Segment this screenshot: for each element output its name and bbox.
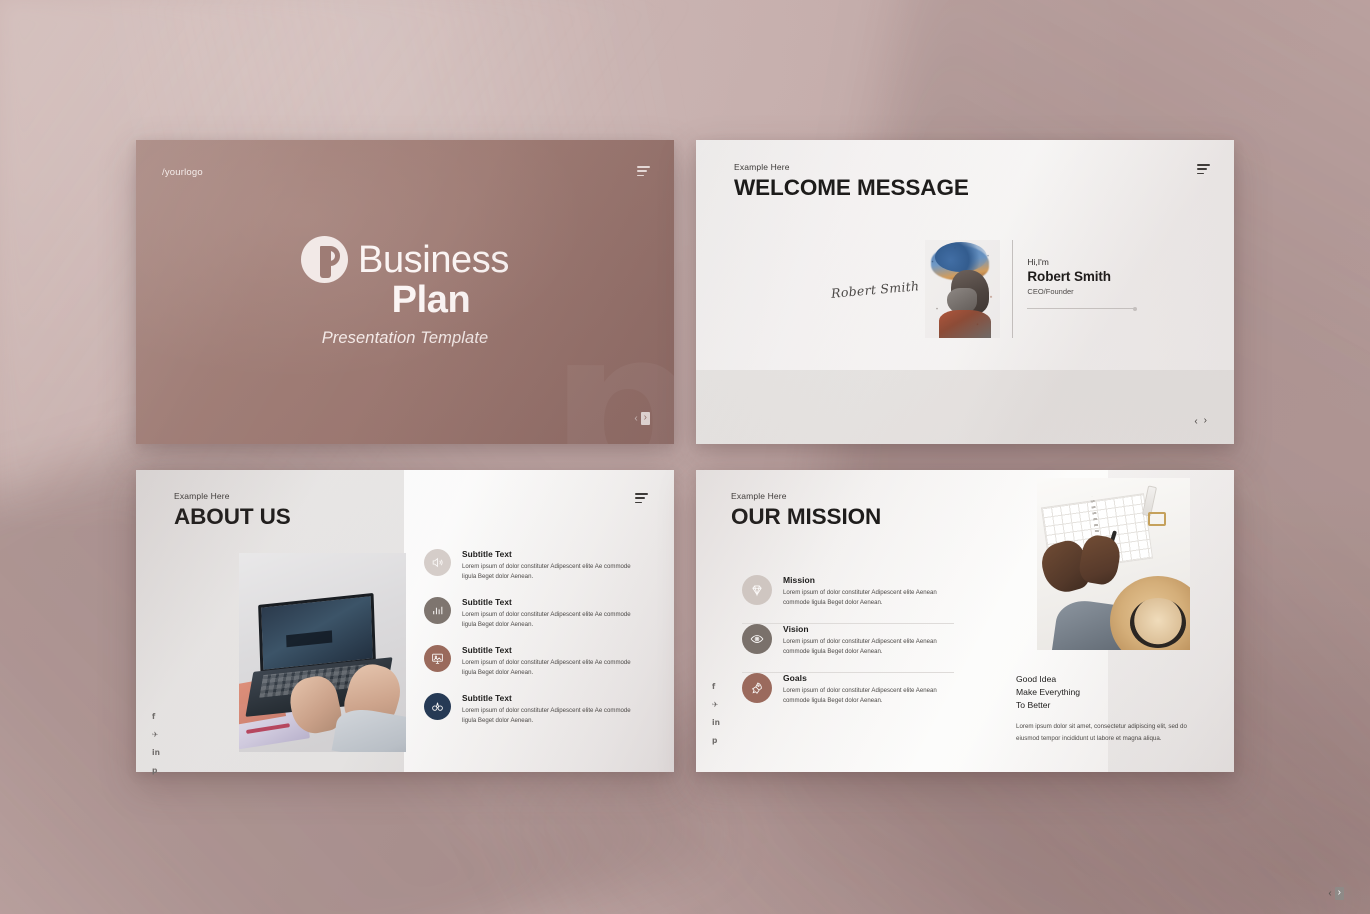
hamburger-icon[interactable] xyxy=(635,493,648,503)
side-panel-title: Good Idea Make Everything To Better xyxy=(1016,673,1206,712)
feature-body: Lorem ipsum of dolor constituter Adipesc… xyxy=(462,658,644,679)
feature-title: Subtitle Text xyxy=(462,645,644,655)
list-item[interactable]: Subtitle Text Lorem ipsum of dolor const… xyxy=(424,693,644,727)
feature-body: Lorem ipsum of dolor constituter Adipesc… xyxy=(783,588,954,609)
linkedin-icon[interactable]: in xyxy=(712,719,720,727)
slide-title[interactable]: p /yourlogo Business Plan Presentation T… xyxy=(136,140,674,444)
prev-arrow-icon[interactable]: ‹ xyxy=(1194,417,1197,427)
next-arrow-icon[interactable]: › xyxy=(1201,415,1210,428)
linkedin-icon[interactable]: in xyxy=(152,749,160,757)
social-links[interactable]: f ✈ in p xyxy=(712,683,720,745)
bar-chart-icon xyxy=(424,597,451,624)
hero-block: Business Plan Presentation Template xyxy=(136,236,674,348)
portrait-photo xyxy=(925,240,1000,338)
feature-body: Lorem ipsum of dolor constituter Adipesc… xyxy=(783,686,954,707)
megaphone-icon xyxy=(424,549,451,576)
facebook-icon[interactable]: f xyxy=(152,713,160,721)
profile-name: Robert Smith xyxy=(1027,269,1135,284)
slide-welcome[interactable]: Example Here WELCOME MESSAGE Robert Smit… xyxy=(696,140,1234,444)
feature-title: Subtitle Text xyxy=(462,597,644,607)
menu-button[interactable] xyxy=(635,493,648,503)
hamburger-icon[interactable] xyxy=(637,166,650,176)
eye-icon xyxy=(742,624,772,654)
menu-button[interactable] xyxy=(1197,164,1210,174)
feature-title: Subtitle Text xyxy=(462,549,644,559)
page-title: ABOUT US xyxy=(174,504,291,530)
slide-navigation[interactable]: ‹ › xyxy=(1328,887,1344,900)
laptop-typing-photo xyxy=(239,553,406,752)
twitter-icon[interactable]: ✈ xyxy=(152,731,160,739)
facebook-icon[interactable]: f xyxy=(712,683,720,691)
mockup-backdrop xyxy=(0,0,1370,914)
next-arrow-icon[interactable]: › xyxy=(641,412,650,425)
side-panel-body: Lorem ipsum dolor sit amet, consectetur … xyxy=(1016,721,1196,744)
list-item[interactable]: Subtitle Text Lorem ipsum of dolor const… xyxy=(424,645,644,679)
feature-title: Mission xyxy=(783,575,954,585)
profile-text: Hi,I'm Robert Smith CEO/Founder xyxy=(1013,240,1135,338)
hero-title-bold: Plan xyxy=(340,281,471,321)
list-item[interactable]: Subtitle Text Lorem ipsum of dolor const… xyxy=(424,597,644,631)
logo-text[interactable]: /yourlogo xyxy=(162,167,203,178)
hero-title-light: Business xyxy=(358,241,509,279)
list-item[interactable]: Subtitle Text Lorem ipsum of dolor const… xyxy=(424,549,644,583)
binoculars-icon xyxy=(424,693,451,720)
menu-button[interactable] xyxy=(637,166,650,176)
slide-footer-band xyxy=(696,370,1234,444)
hamburger-icon[interactable] xyxy=(1197,164,1210,174)
next-arrow-icon[interactable]: › xyxy=(1335,887,1344,900)
slide-header: Example Here WELCOME MESSAGE xyxy=(734,162,969,201)
side-panel-text: Good Idea Make Everything To Better Lore… xyxy=(1016,673,1206,744)
eyebrow-label: Example Here xyxy=(174,491,291,501)
feature-body: Lorem ipsum of dolor constituter Adipesc… xyxy=(462,706,644,727)
pinterest-icon[interactable]: p xyxy=(712,737,720,745)
slide-header: Example Here OUR MISSION xyxy=(731,491,881,530)
list-item[interactable]: Mission Lorem ipsum of dolor constituter… xyxy=(742,575,954,624)
feature-body: Lorem ipsum of dolor constituter Adipesc… xyxy=(462,610,644,631)
page-title: WELCOME MESSAGE xyxy=(734,175,969,201)
feature-list-about: Subtitle Text Lorem ipsum of dolor const… xyxy=(424,549,644,741)
page-title: OUR MISSION xyxy=(731,504,881,530)
feature-title: Vision xyxy=(783,624,954,634)
rocket-icon xyxy=(742,673,772,703)
profile-role: CEO/Founder xyxy=(1027,287,1135,296)
prev-arrow-icon[interactable]: ‹ xyxy=(634,414,637,424)
list-item[interactable]: Vision Lorem ipsum of dolor constituter … xyxy=(742,624,954,673)
social-links[interactable]: f ✈ in p xyxy=(152,713,160,775)
profile-greeting: Hi,I'm xyxy=(1027,257,1135,267)
slide-navigation[interactable]: ‹ › xyxy=(634,412,650,425)
slide-navigation[interactable]: ‹ › xyxy=(1194,415,1210,428)
list-item[interactable]: Goals Lorem ipsum of dolor constituter A… xyxy=(742,673,954,721)
signature-text: Robert Smith xyxy=(831,278,920,301)
eyebrow-label: Example Here xyxy=(734,162,969,172)
diamond-icon xyxy=(742,575,772,605)
slide-header: Example Here ABOUT US xyxy=(174,491,291,530)
pinterest-icon[interactable]: p xyxy=(152,767,160,775)
hero-title-row: Business xyxy=(301,236,509,283)
presentation-image-icon xyxy=(424,645,451,672)
feature-body: Lorem ipsum of dolor constituter Adipesc… xyxy=(783,637,954,658)
feature-list-mission: Mission Lorem ipsum of dolor constituter… xyxy=(742,575,954,721)
feature-title: Goals xyxy=(783,673,954,683)
desk-flatlay-photo xyxy=(1037,478,1190,650)
eyebrow-label: Example Here xyxy=(731,491,881,501)
prev-arrow-icon[interactable]: ‹ xyxy=(1328,889,1331,899)
profile-block: Robert Smith Hi,I'm Robert Smith CEO/Fou… xyxy=(831,240,1135,338)
twitter-icon[interactable]: ✈ xyxy=(712,701,720,709)
hero-subtitle: Presentation Template xyxy=(322,329,489,348)
feature-title: Subtitle Text xyxy=(462,693,644,703)
feature-body: Lorem ipsum of dolor constituter Adipesc… xyxy=(462,562,644,583)
profile-rule xyxy=(1027,308,1135,309)
brand-p-logo-icon xyxy=(301,236,348,283)
